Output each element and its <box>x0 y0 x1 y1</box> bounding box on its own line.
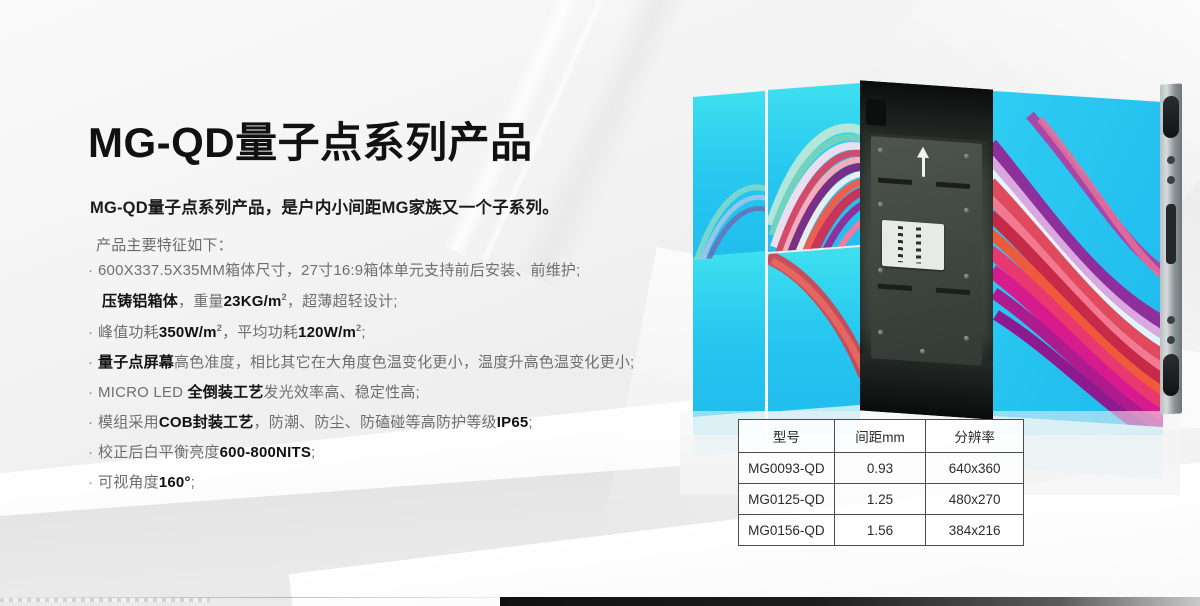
feature-item: ·峰值功耗350W/m2，平均功耗120W/m2; <box>88 324 688 340</box>
receiving-card <box>882 220 944 270</box>
feature-text: 600X337.5X35MM箱体尺寸，27寸16:9箱体单元支持前后安装、前维护… <box>98 262 581 279</box>
table-cell: 640x360 <box>926 453 1024 484</box>
table-cell: 384x216 <box>926 515 1024 546</box>
feature-emphasis: IP65 <box>497 414 529 431</box>
table-row: MG0093-QD0.93640x360 <box>739 453 1024 484</box>
feature-text: ; <box>361 324 365 341</box>
table-header-row: 型号间距mm分辨率 <box>739 420 1024 453</box>
feature-text: ; <box>528 414 532 431</box>
table-cell: MG0125-QD <box>739 484 835 515</box>
page-title: MG-QD量子点系列产品 <box>88 120 688 166</box>
promo-banner: MG-QD量子点系列产品 MG-QD量子点系列产品，是户内小间距MG家族又一个子… <box>0 0 1200 606</box>
feature-list: ·600X337.5X35MM箱体尺寸，27寸16:9箱体单元支持前后安装、前维… <box>88 263 688 490</box>
feature-text: ; <box>191 474 195 491</box>
bullet-dot-icon: · <box>88 475 98 490</box>
features-lead: 产品主要特征如下： <box>96 234 688 255</box>
table-row: MG0125-QD1.25480x270 <box>739 484 1024 515</box>
bullet-dot-icon: · <box>88 263 98 278</box>
table-cell: 0.93 <box>834 453 926 484</box>
bullet-dot-icon: · <box>88 415 98 430</box>
led-cabinet-back <box>860 80 993 419</box>
table-cell: MG0156-QD <box>739 515 835 546</box>
table-cell: MG0093-QD <box>739 453 835 484</box>
led-cabinet-wall-image <box>660 75 1200 425</box>
bullet-dot-icon: · <box>88 355 98 370</box>
bottom-dotted-line <box>0 598 210 602</box>
feature-text: 可视角度 <box>98 474 159 491</box>
bullet-dot-icon: · <box>88 385 98 400</box>
copy-block: MG-QD量子点系列产品 MG-QD量子点系列产品，是户内小间距MG家族又一个子… <box>88 120 688 505</box>
feature-item: ·校正后白平衡亮度600-800NITS; <box>88 445 688 460</box>
feature-item: ·模组采用COB封装工艺，防潮、防尘、防磕碰等高防护等级IP65; <box>88 415 688 430</box>
feature-emphasis: 160° <box>159 474 191 491</box>
feature-emphasis: 压铸铝箱体 <box>102 293 178 310</box>
feature-item: ·量子点屏幕高色准度，相比其它在大角度色温变化更小，温度升高色温变化更小; <box>88 355 688 370</box>
table-cell: 1.56 <box>834 515 926 546</box>
feature-emphasis: COB封装工艺 <box>159 414 254 431</box>
table-cell: 480x270 <box>926 484 1024 515</box>
feature-item: ·可视角度160°; <box>88 475 688 490</box>
feature-emphasis: 全倒装工艺 <box>188 384 264 401</box>
feature-text: ; <box>311 444 315 461</box>
table-cell: 1.25 <box>834 484 926 515</box>
spec-table: 型号间距mm分辨率 MG0093-QD0.93640x360MG0125-QD1… <box>738 419 1024 546</box>
bullet-dot-icon: · <box>88 325 98 340</box>
feature-emphasis: 350W/m <box>159 324 217 341</box>
table-header-cell: 间距mm <box>834 420 926 453</box>
cabinet-side-frame <box>1160 83 1182 414</box>
feature-text: 发光效率高、稳定性高; <box>264 384 420 401</box>
subtitle: MG-QD量子点系列产品，是户内小间距MG家族又一个子系列。 <box>90 194 688 218</box>
feature-text: 高色准度，相比其它在大角度色温变化更小，温度升高色温变化更小; <box>174 354 634 371</box>
bullet-dot-icon: · <box>88 445 98 460</box>
table-row: MG0156-QD1.56384x216 <box>739 515 1024 546</box>
feature-text: 峰值功耗 <box>98 324 159 341</box>
feature-text: ，防潮、防尘、防磕碰等高防护等级 <box>254 414 497 431</box>
table-header-cell: 型号 <box>739 420 835 453</box>
bottom-dark-bar <box>500 597 1200 606</box>
feature-text: 模组采用 <box>98 414 159 431</box>
feature-item: ·600X337.5X35MM箱体尺寸，27寸16:9箱体单元支持前后安装、前维… <box>88 263 688 278</box>
table-header-cell: 分辨率 <box>926 420 1024 453</box>
feature-emphasis: 23KG/m <box>224 293 282 310</box>
feature-text: ，超薄超轻设计; <box>287 293 398 310</box>
feature-text: MICRO LED <box>98 384 188 401</box>
feature-item: ·MICRO LED 全倒装工艺发光效率高、稳定性高; <box>88 385 688 400</box>
feature-item: 压铸铝箱体，重量23KG/m2，超薄超轻设计; <box>88 293 688 309</box>
feature-text: 校正后白平衡亮度 <box>98 444 220 461</box>
feature-text: ，重量 <box>178 293 224 310</box>
feature-emphasis: 量子点屏幕 <box>98 354 174 371</box>
feature-emphasis: 120W/m <box>298 324 356 341</box>
feature-text: ，平均功耗 <box>222 324 298 341</box>
feature-emphasis: 600-800NITS <box>220 444 311 461</box>
